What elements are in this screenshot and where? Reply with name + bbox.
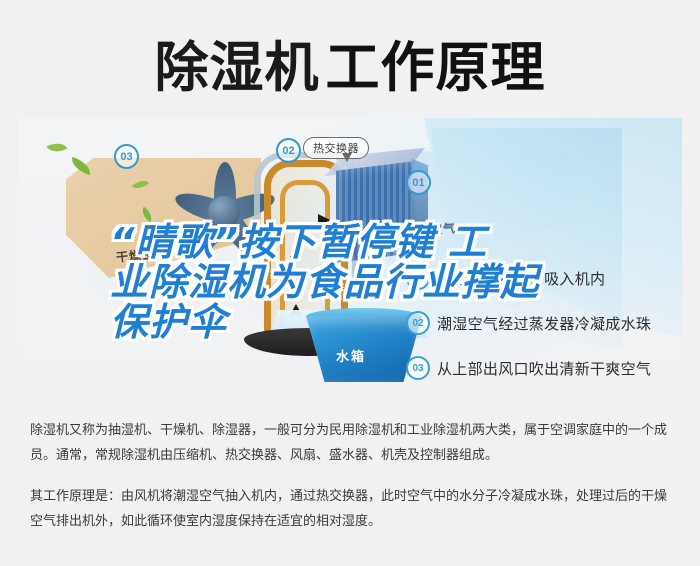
diagram-badge-03: 03 bbox=[114, 144, 139, 169]
legend-badge: 03 bbox=[406, 356, 430, 380]
callout-tail-icon bbox=[342, 153, 352, 162]
overlay-headline-line3: 保护伞 bbox=[110, 302, 590, 342]
leaf-icon bbox=[47, 139, 68, 157]
legend-item: 03 从上部出风口吹出清新干爽空气 bbox=[406, 356, 682, 380]
overlay-headline-line1: “晴歌”按下暂停键 工 bbox=[110, 222, 590, 262]
page-title-part1: 除湿机 bbox=[155, 36, 320, 99]
page-title-text: 除湿机工作原理 bbox=[155, 23, 546, 102]
page-root: 除湿机工作原理 干燥空气 潮湿空气 bbox=[0, 0, 700, 566]
overlay-headline: “晴歌”按下暂停键 工 业除湿机为食品行业撑起 保护伞 bbox=[110, 222, 590, 342]
page-title: 除湿机工作原理 bbox=[0, 26, 700, 98]
diagram-badge-01: 01 bbox=[406, 170, 431, 195]
body-paragraph-2: 其工作原理是：由风机将潮湿空气抽入机内，通过热交换器，此时空气中的水分子冷凝成水… bbox=[30, 484, 675, 534]
legend-label: 从上部出风口吹出清新干爽空气 bbox=[437, 358, 651, 379]
water-tank-label: 水箱 bbox=[336, 346, 366, 365]
body-paragraph-1: 除湿机又称为抽湿机、干燥机、除湿器，一般可分为民用除湿机和工业除湿机两大类，属于… bbox=[30, 418, 675, 468]
page-title-part2: 工作原理 bbox=[326, 36, 546, 99]
heat-exchanger-callout: 热交换器 bbox=[303, 137, 369, 159]
diagram-badge-02: 02 bbox=[276, 138, 301, 163]
overlay-headline-line2: 业除湿机为食品行业撑起 bbox=[110, 262, 590, 302]
article-body: 除湿机又称为抽湿机、干燥机、除湿器，一般可分为民用除湿机和工业除湿机两大类，属于… bbox=[30, 418, 675, 534]
